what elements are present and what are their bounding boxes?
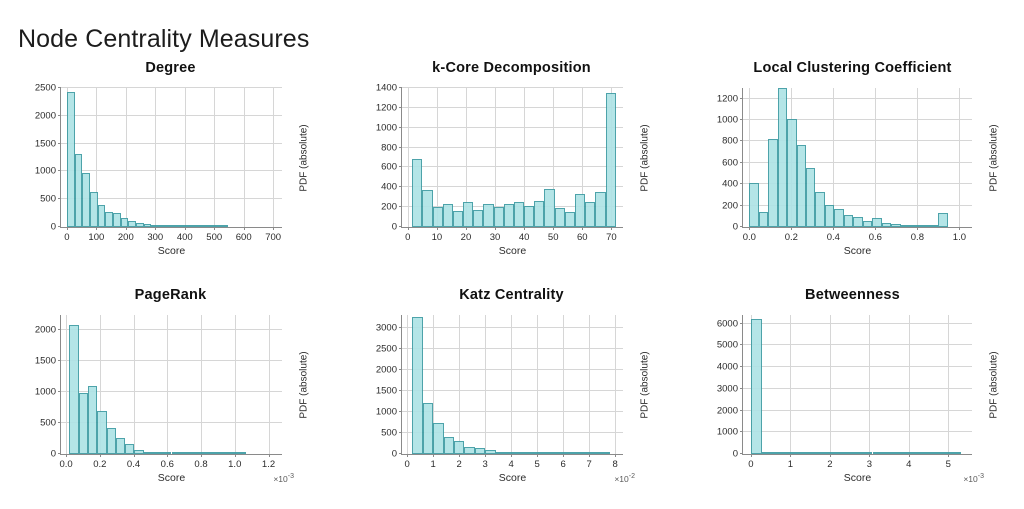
x-axis-tick-label: 8 <box>613 459 618 470</box>
x-axis-tick-mark <box>466 227 467 230</box>
y-axis-tick-label: 600 <box>722 157 738 168</box>
x-axis-tick-label: 1.0 <box>953 232 966 243</box>
y-axis-label-right: PDF (absolute) <box>299 351 310 418</box>
histogram-bar <box>453 211 463 227</box>
histogram-bar <box>433 423 443 454</box>
y-axis-label-right: PDF (absolute) <box>989 351 1000 418</box>
x-axis-tick-mark <box>126 227 127 230</box>
histogram-bar <box>768 139 777 227</box>
histogram-bar <box>67 92 75 227</box>
x-axis-tick-label: 0.8 <box>911 232 924 243</box>
histogram-bar <box>873 452 884 454</box>
y-axis-tick-label: 4000 <box>717 362 738 373</box>
axes-kcore: 0200400600800100012001400010203040506070… <box>401 88 623 228</box>
x-axis-tick-label: 0 <box>748 459 753 470</box>
x-axis-tick-mark <box>790 454 791 457</box>
histogram-bar <box>504 204 514 227</box>
histogram-bar <box>844 215 853 227</box>
x-axis-tick-label: 0.0 <box>743 232 756 243</box>
x-axis-tick-mark <box>235 454 236 457</box>
y-axis-tick-label: 2500 <box>376 343 397 354</box>
x-axis-tick-mark <box>485 454 486 457</box>
y-axis-tick-label: 1000 <box>717 115 738 126</box>
y-axis-tick-label: 6000 <box>717 318 738 329</box>
x-axis-tick-label: 500 <box>206 232 222 243</box>
histogram-bar <box>69 325 78 454</box>
histogram-bar <box>116 438 125 454</box>
x-axis-tick-label: 10 <box>432 232 443 243</box>
x-axis-tick-mark <box>495 227 496 230</box>
x-axis-tick-label: 7 <box>587 459 592 470</box>
x-axis-tick-label: 0.6 <box>869 232 882 243</box>
x-axis-label: Score <box>499 472 526 484</box>
x-axis-tick-mark <box>751 454 752 457</box>
histogram-bar <box>473 210 483 227</box>
histogram-bar <box>98 205 106 227</box>
histogram-bar <box>209 452 218 454</box>
histogram-bar <box>105 212 113 227</box>
histogram-bar <box>600 452 610 454</box>
x-axis-tick-mark <box>201 454 202 457</box>
chart-panel-lcc: Local Clustering Coefficient 02004006008… <box>682 55 1023 282</box>
histogram-bars <box>61 315 282 454</box>
histogram-bar <box>433 207 443 227</box>
x-axis-tick-label: 0.4 <box>127 459 140 470</box>
histogram-bar <box>443 204 453 227</box>
x-axis-label: Score <box>158 245 185 257</box>
x-axis-tick-label: 0.6 <box>161 459 174 470</box>
x-axis-label: Score <box>844 472 871 484</box>
x-axis-tick-label: 0.0 <box>59 459 72 470</box>
x-axis-tick-mark <box>524 227 525 230</box>
histogram-bar <box>919 225 928 227</box>
histogram-bar <box>174 225 182 227</box>
x-axis-tick-label: 3 <box>483 459 488 470</box>
histogram-bar <box>79 393 88 454</box>
histogram-bar <box>558 452 568 454</box>
histogram-bar <box>75 154 83 227</box>
x-axis-tick-mark <box>582 227 583 230</box>
x-axis-tick-mark <box>214 227 215 230</box>
x-axis-exponent-label: ×10-3 <box>963 473 984 484</box>
x-axis-label: Score <box>844 245 871 257</box>
x-axis-tick-mark <box>433 454 434 457</box>
histogram-bar <box>485 450 495 454</box>
y-axis-tick-label: 0 <box>733 449 738 460</box>
x-axis-exponent-label: ×10-3 <box>273 473 294 484</box>
histogram-bar <box>817 452 828 454</box>
histogram-bar <box>153 452 162 454</box>
chart-panel-pagerank: PageRank 05001000150020000.00.20.40.60.8… <box>0 282 341 509</box>
histogram-bar <box>534 201 544 227</box>
y-axis-tick-label: 1200 <box>717 93 738 104</box>
x-axis-tick-mark <box>959 227 960 230</box>
y-axis-tick-label: 500 <box>40 194 56 205</box>
histogram-bar <box>548 452 558 454</box>
chart-grid: Degree 050010001500200025000100200300400… <box>0 55 1024 509</box>
histogram-bar <box>751 319 762 454</box>
histogram-bar <box>514 202 524 227</box>
x-axis-label: Score <box>499 245 526 257</box>
y-axis-tick-label: 1000 <box>35 387 56 398</box>
histogram-bar <box>950 452 961 454</box>
x-axis-tick-label: 30 <box>490 232 501 243</box>
histogram-bar <box>412 317 422 454</box>
x-axis-tick-mark <box>273 227 274 230</box>
histogram-bar <box>795 452 806 454</box>
histogram-bar <box>585 202 595 227</box>
chart-panel-katz: Katz Centrality 050010001500200025003000… <box>341 282 682 509</box>
x-axis-tick-label: 1.2 <box>262 459 275 470</box>
plot-area-pagerank: 05001000150020000.00.20.40.60.81.01.2Sco… <box>0 282 341 509</box>
histogram-bar <box>412 159 422 228</box>
chart-panel-degree: Degree 050010001500200025000100200300400… <box>0 55 341 282</box>
x-axis-tick-mark <box>909 454 910 457</box>
x-axis-tick-label: 2 <box>457 459 462 470</box>
x-axis-tick-label: 4 <box>906 459 911 470</box>
histogram-bar <box>197 225 205 227</box>
histogram-bar <box>494 207 504 227</box>
histogram-bar <box>910 225 919 227</box>
histogram-bar <box>928 452 939 454</box>
y-axis-tick-label: 1000 <box>717 427 738 438</box>
histogram-bar <box>236 452 245 454</box>
x-axis-tick-label: 2 <box>827 459 832 470</box>
x-axis-tick-mark <box>459 454 460 457</box>
plot-area-degree: 0500100015002000250001002003004005006007… <box>0 55 341 282</box>
histogram-bar <box>483 204 493 227</box>
histogram-bar <box>784 452 795 454</box>
y-axis-tick-label: 0 <box>733 222 738 233</box>
x-axis-tick-mark <box>100 454 101 457</box>
y-axis-tick-label: 2000 <box>376 364 397 375</box>
x-axis-tick-mark <box>833 227 834 230</box>
x-axis-tick-label: 300 <box>147 232 163 243</box>
histogram-bar <box>121 218 129 227</box>
histogram-bar <box>797 145 806 227</box>
x-axis-tick-label: 40 <box>519 232 530 243</box>
x-axis-tick-mark <box>244 227 245 230</box>
x-axis-tick-label: 0.2 <box>785 232 798 243</box>
histogram-bar <box>516 452 526 454</box>
x-axis-exponent-label: ×10-2 <box>614 473 635 484</box>
x-axis-tick-mark <box>537 454 538 457</box>
histogram-bar <box>891 224 900 227</box>
histogram-bar <box>884 452 895 454</box>
x-axis-tick-mark <box>67 227 68 230</box>
histogram-bar <box>589 452 599 454</box>
histogram-bar <box>181 452 190 454</box>
histogram-bar <box>454 441 464 454</box>
histogram-bar <box>917 452 928 454</box>
histogram-bar <box>749 183 758 227</box>
y-axis-tick-label: 1000 <box>376 406 397 417</box>
histogram-bar <box>82 173 90 227</box>
y-axis-tick-label: 2500 <box>35 83 56 94</box>
x-axis-tick-label: 6 <box>561 459 566 470</box>
axes-degree: 0500100015002000250001002003004005006007… <box>60 88 282 228</box>
x-axis-tick-mark <box>437 227 438 230</box>
x-axis-tick-mark <box>66 454 67 457</box>
histogram-bar <box>929 225 938 227</box>
y-axis-tick-label: 0 <box>392 222 397 233</box>
y-axis-tick-label: 600 <box>381 162 397 173</box>
histogram-bar <box>125 444 134 454</box>
axes-lcc: 0200400600800100012000.00.20.40.60.81.0S… <box>742 88 972 228</box>
histogram-bar <box>172 452 181 454</box>
histogram-bar <box>423 403 433 454</box>
histogram-bar <box>815 192 824 227</box>
histogram-bar <box>759 212 768 227</box>
histogram-bar <box>218 452 227 454</box>
x-axis-tick-mark <box>791 227 792 230</box>
x-axis-tick-label: 5 <box>946 459 951 470</box>
histogram-bar <box>565 212 575 227</box>
x-axis-tick-label: 0.8 <box>194 459 207 470</box>
x-axis-tick-label: 400 <box>177 232 193 243</box>
x-axis-tick-mark <box>875 227 876 230</box>
plot-area-betweenness: 0100020003000400050006000012345Score×10-… <box>682 282 1023 509</box>
chart-panel-betweenness: Betweenness 0100020003000400050006000012… <box>682 282 1023 509</box>
y-axis-tick-label: 5000 <box>717 340 738 351</box>
x-axis-tick-label: 60 <box>577 232 588 243</box>
histogram-bar <box>444 437 454 454</box>
y-axis-tick-label: 0 <box>392 449 397 460</box>
y-axis-label-right: PDF (absolute) <box>299 124 310 191</box>
y-axis-tick-label: 1200 <box>376 102 397 113</box>
y-axis-tick-label: 1500 <box>35 356 56 367</box>
y-axis-tick-label: 0 <box>51 222 56 233</box>
histogram-bar <box>134 450 143 454</box>
histogram-bar <box>475 448 485 454</box>
x-axis-tick-mark <box>408 227 409 230</box>
histogram-bar <box>939 452 950 454</box>
histogram-bar <box>189 225 197 227</box>
x-axis-tick-label: 1.0 <box>228 459 241 470</box>
x-axis-tick-mark <box>615 454 616 457</box>
histogram-bar <box>834 209 843 227</box>
y-axis-tick-label: 500 <box>381 427 397 438</box>
plot-area-katz: 050010001500200025003000012345678Score×1… <box>341 282 682 509</box>
histogram-bar <box>162 452 171 454</box>
y-axis-label-right: PDF (absolute) <box>989 124 1000 191</box>
histogram-bar <box>190 452 199 454</box>
x-axis-tick-label: 0 <box>405 459 410 470</box>
x-axis-tick-label: 100 <box>88 232 104 243</box>
histogram-bar <box>555 208 565 227</box>
histogram-bar <box>901 225 910 227</box>
histogram-bar <box>144 224 152 227</box>
y-axis-label-right: PDF (absolute) <box>640 351 651 418</box>
y-axis-tick-label: 1400 <box>376 83 397 94</box>
x-axis-tick-label: 1 <box>788 459 793 470</box>
histogram-bar <box>422 190 432 227</box>
y-axis-tick-label: 200 <box>722 200 738 211</box>
y-axis-tick-label: 2000 <box>35 325 56 336</box>
x-axis-tick-mark <box>134 454 135 457</box>
histogram-bar <box>107 428 116 454</box>
histogram-bars <box>743 315 972 454</box>
y-axis-tick-label: 1000 <box>376 122 397 133</box>
histogram-bar <box>938 213 947 227</box>
x-axis-tick-label: 0 <box>64 232 69 243</box>
histogram-bar <box>113 213 121 227</box>
x-axis-tick-mark <box>269 454 270 457</box>
histogram-bar <box>212 225 220 227</box>
histogram-bar <box>524 206 534 227</box>
histogram-bar <box>850 452 861 454</box>
histogram-bar <box>839 452 850 454</box>
histogram-bar <box>199 452 208 454</box>
histogram-bar <box>166 225 174 227</box>
x-axis-tick-label: 0.4 <box>827 232 840 243</box>
x-axis-tick-label: 0.2 <box>93 459 106 470</box>
x-axis-tick-label: 20 <box>461 232 472 243</box>
y-axis-tick-label: 500 <box>40 418 56 429</box>
histogram-bars <box>743 88 972 227</box>
histogram-bar <box>527 452 537 454</box>
x-axis-tick-mark <box>749 227 750 230</box>
histogram-bar <box>496 452 506 454</box>
axes-betweenness: 0100020003000400050006000012345Score×10-… <box>742 315 972 455</box>
x-axis-tick-label: 700 <box>265 232 281 243</box>
x-axis-label: Score <box>158 472 185 484</box>
y-axis-tick-label: 1500 <box>35 138 56 149</box>
y-axis-tick-label: 0 <box>51 449 56 460</box>
chart-panel-kcore: k-Core Decomposition 0200400600800100012… <box>341 55 682 282</box>
histogram-bar <box>828 452 839 454</box>
histogram-bar <box>906 452 917 454</box>
y-axis-tick-label: 400 <box>722 179 738 190</box>
histogram-bar <box>595 192 605 227</box>
x-axis-tick-label: 5 <box>535 459 540 470</box>
x-axis-tick-mark <box>155 227 156 230</box>
x-axis-tick-label: 600 <box>236 232 252 243</box>
x-axis-tick-mark <box>553 227 554 230</box>
histogram-bars <box>402 88 623 227</box>
x-axis-tick-label: 4 <box>509 459 514 470</box>
histogram-bar <box>773 452 784 454</box>
y-axis-tick-label: 800 <box>381 142 397 153</box>
histogram-bars <box>61 88 282 227</box>
x-axis-tick-mark <box>407 454 408 457</box>
y-axis-tick-label: 2000 <box>35 110 56 121</box>
x-axis-tick-mark <box>167 454 168 457</box>
x-axis-tick-mark <box>511 454 512 457</box>
histogram-bar <box>778 88 787 227</box>
histogram-bar <box>151 225 159 227</box>
x-axis-tick-label: 0 <box>405 232 410 243</box>
x-axis-tick-mark <box>563 454 564 457</box>
histogram-bar <box>464 447 474 454</box>
histogram-bar <box>128 221 136 227</box>
page-title: Node Centrality Measures <box>18 25 309 54</box>
x-axis-tick-label: 70 <box>606 232 617 243</box>
histogram-bar <box>579 452 589 454</box>
x-axis-tick-label: 3 <box>867 459 872 470</box>
histogram-bar <box>787 119 796 227</box>
histogram-bar <box>568 452 578 454</box>
axes-katz: 050010001500200025003000012345678Score×1… <box>401 315 623 455</box>
x-axis-tick-mark <box>185 227 186 230</box>
histogram-bar <box>537 452 547 454</box>
histogram-bar <box>205 225 213 227</box>
histogram-bar <box>136 223 144 227</box>
plot-area-kcore: 0200400600800100012001400010203040506070… <box>341 55 682 282</box>
histogram-bar <box>220 225 228 227</box>
histogram-bar <box>506 452 516 454</box>
histogram-bar <box>825 205 834 227</box>
histogram-bar <box>227 452 236 454</box>
plot-area-lcc: 0200400600800100012000.00.20.40.60.81.0S… <box>682 55 1023 282</box>
histogram-bar <box>544 189 554 227</box>
y-axis-label-right: PDF (absolute) <box>640 124 651 191</box>
histogram-bar <box>861 452 872 454</box>
x-axis-tick-label: 50 <box>548 232 559 243</box>
histogram-bar <box>806 168 815 227</box>
y-axis-tick-label: 2000 <box>717 405 738 416</box>
histogram-bar <box>144 452 153 454</box>
x-axis-tick-mark <box>589 454 590 457</box>
x-axis-tick-mark <box>830 454 831 457</box>
histogram-bar <box>853 217 862 227</box>
histogram-bar <box>895 452 906 454</box>
y-axis-tick-label: 1500 <box>376 385 397 396</box>
y-axis-tick-label: 200 <box>381 202 397 213</box>
x-axis-tick-mark <box>96 227 97 230</box>
x-axis-tick-label: 200 <box>118 232 134 243</box>
x-axis-tick-mark <box>948 454 949 457</box>
histogram-bar <box>762 452 773 454</box>
histogram-bar <box>90 192 98 227</box>
x-axis-tick-mark <box>917 227 918 230</box>
axes-pagerank: 05001000150020000.00.20.40.60.81.01.2Sco… <box>60 315 282 455</box>
histogram-bar <box>182 225 190 227</box>
histogram-bar <box>606 93 616 227</box>
histogram-bar <box>863 221 872 227</box>
histogram-bar <box>97 411 106 454</box>
y-axis-tick-label: 3000 <box>376 322 397 333</box>
x-axis-tick-label: 1 <box>431 459 436 470</box>
histogram-bar <box>463 202 473 227</box>
histogram-bar <box>575 194 585 227</box>
y-axis-tick-label: 3000 <box>717 383 738 394</box>
histogram-bar <box>88 386 97 454</box>
x-axis-tick-mark <box>611 227 612 230</box>
y-axis-tick-label: 800 <box>722 136 738 147</box>
histogram-bar <box>872 218 881 227</box>
histogram-bars <box>402 315 623 454</box>
histogram-bar <box>882 223 891 227</box>
y-axis-tick-label: 400 <box>381 182 397 193</box>
y-axis-tick-label: 1000 <box>35 166 56 177</box>
histogram-bar <box>806 452 817 454</box>
histogram-bar <box>159 225 167 227</box>
x-axis-tick-mark <box>869 454 870 457</box>
